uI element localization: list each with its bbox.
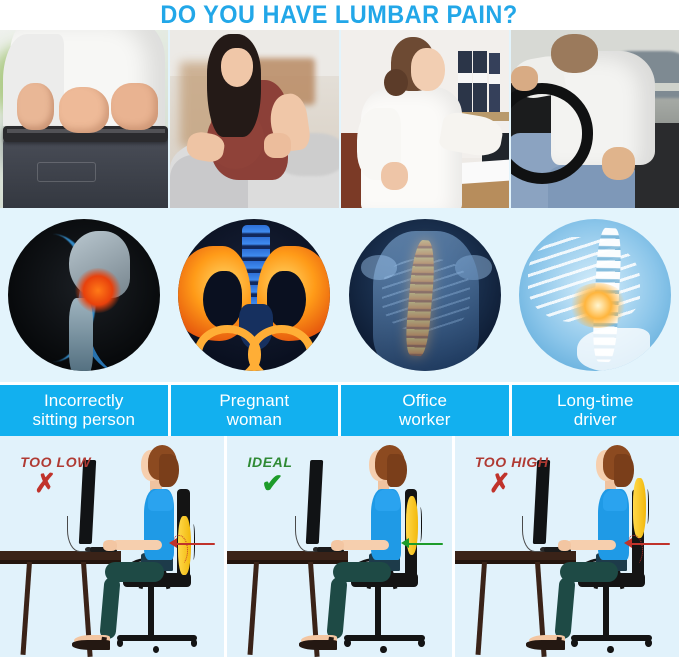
person-hair-back — [387, 454, 407, 487]
caption-incorrect-sitting: Incorrectly sitting person — [0, 385, 168, 436]
caption-office-worker: Office worker — [341, 385, 509, 436]
photo-pregnant-woman — [170, 30, 338, 208]
person-shoulder — [375, 489, 400, 511]
chair-base — [571, 635, 652, 641]
person-shoe — [72, 640, 110, 649]
photo-long-time-driver — [511, 30, 679, 208]
desk-surface — [227, 551, 348, 560]
title-bar: DO YOU HAVE LUMBAR PAIN? — [0, 0, 679, 30]
cushion-strap — [418, 507, 422, 542]
chair-caster — [571, 639, 578, 647]
photo-cell-pregnant-woman — [170, 30, 338, 208]
check-icon: ✔ — [262, 472, 293, 495]
photo-cell-incorrect-sitting — [0, 30, 168, 208]
badge-label: TOO HIGH — [475, 454, 549, 470]
person-hair-back — [159, 454, 179, 487]
caption-pregnant-woman: Pregnant woman — [171, 385, 339, 436]
caption-line-1: Long-time — [557, 391, 634, 410]
desk-surface — [0, 551, 121, 560]
person-arm — [339, 540, 388, 550]
chair-caster — [191, 639, 198, 647]
cross-icon: ✗ — [489, 472, 549, 495]
lumbar-cushion — [633, 478, 646, 538]
caption-row: Incorrectly sitting person Pregnant woma… — [0, 382, 679, 436]
person-shoe — [299, 640, 337, 649]
desk-leg — [20, 562, 31, 655]
monitor-icon — [306, 460, 323, 544]
chair-gas-cylinder — [603, 586, 609, 637]
medical-cell-spine-back — [341, 208, 509, 382]
medical-cell-hip-joint — [0, 208, 168, 382]
badge-too-low: TOO LOW ✗ — [20, 454, 91, 495]
chair-caster — [645, 639, 652, 647]
position-panel-too-low: TOO LOW ✗ — [0, 436, 224, 657]
photo-row — [0, 30, 679, 208]
desk-edge — [455, 560, 576, 564]
chair-caster — [117, 639, 124, 647]
person-shin — [99, 577, 120, 640]
caption-line-1: Pregnant — [219, 391, 289, 410]
desk-leg — [248, 562, 259, 655]
person-thigh — [560, 562, 618, 582]
chair-caster — [607, 646, 614, 654]
person-arm — [112, 540, 161, 550]
desk-surface — [455, 551, 576, 560]
lumbar-side-pain-illustration — [519, 219, 671, 371]
page-title: DO YOU HAVE LUMBAR PAIN? — [161, 1, 518, 30]
photo-office-worker — [341, 30, 509, 208]
photo-cell-long-time-driver — [511, 30, 679, 208]
desk-leg — [475, 562, 486, 655]
chair-gas-cylinder — [375, 586, 381, 637]
spine-back-pain-illustration — [349, 219, 501, 371]
chair-caster — [344, 639, 351, 647]
person-shoe — [526, 640, 564, 649]
person-shin — [554, 577, 575, 640]
caption-line-1: Office — [402, 391, 447, 410]
person-hair-back — [614, 454, 634, 487]
badge-too-high: TOO HIGH ✗ — [475, 454, 549, 495]
person-hand — [331, 540, 344, 551]
chair-gas-cylinder — [148, 586, 154, 637]
hip-joint-pain-illustration — [8, 219, 160, 371]
caption-line-2: woman — [227, 410, 282, 429]
caption-line-1: Incorrectly — [44, 391, 124, 410]
person-thigh — [333, 562, 391, 582]
photo-incorrect-sitting — [0, 30, 168, 208]
caption-line-2: driver — [574, 410, 617, 429]
chair-base — [117, 635, 198, 641]
medical-cell-pelvis — [170, 208, 338, 382]
chair-caster — [153, 646, 160, 654]
position-panel-ideal: IDEAL ✔ — [227, 436, 451, 657]
pelvis-pain-illustration — [178, 219, 330, 371]
medical-illustration-row — [0, 208, 679, 382]
caption-line-2: sitting person — [32, 410, 135, 429]
photo-cell-office-worker — [341, 30, 509, 208]
person-shin — [327, 577, 348, 640]
person-hand — [103, 540, 116, 551]
person-shoulder — [148, 489, 173, 511]
infographic-page: DO YOU HAVE LUMBAR PAIN? — [0, 0, 679, 661]
person-shoulder — [603, 489, 628, 511]
badge-ideal: IDEAL ✔ — [248, 454, 293, 495]
caption-line-2: worker — [399, 410, 451, 429]
chair-base — [344, 635, 425, 641]
chair-caster — [380, 646, 387, 654]
desk-edge — [0, 560, 121, 564]
cross-icon: ✗ — [34, 472, 91, 495]
person-hand — [558, 540, 571, 551]
chair-caster — [418, 639, 425, 647]
position-panel-row: TOO LOW ✗ — [0, 436, 679, 657]
caption-long-time-driver: Long-time driver — [512, 385, 679, 436]
person-arm — [567, 540, 616, 550]
person-thigh — [105, 562, 163, 582]
medical-cell-lumbar-side — [511, 208, 679, 382]
desk-edge — [227, 560, 348, 564]
cushion-strap — [645, 489, 649, 524]
position-panel-too-high: TOO HIGH ✗ — [455, 436, 679, 657]
